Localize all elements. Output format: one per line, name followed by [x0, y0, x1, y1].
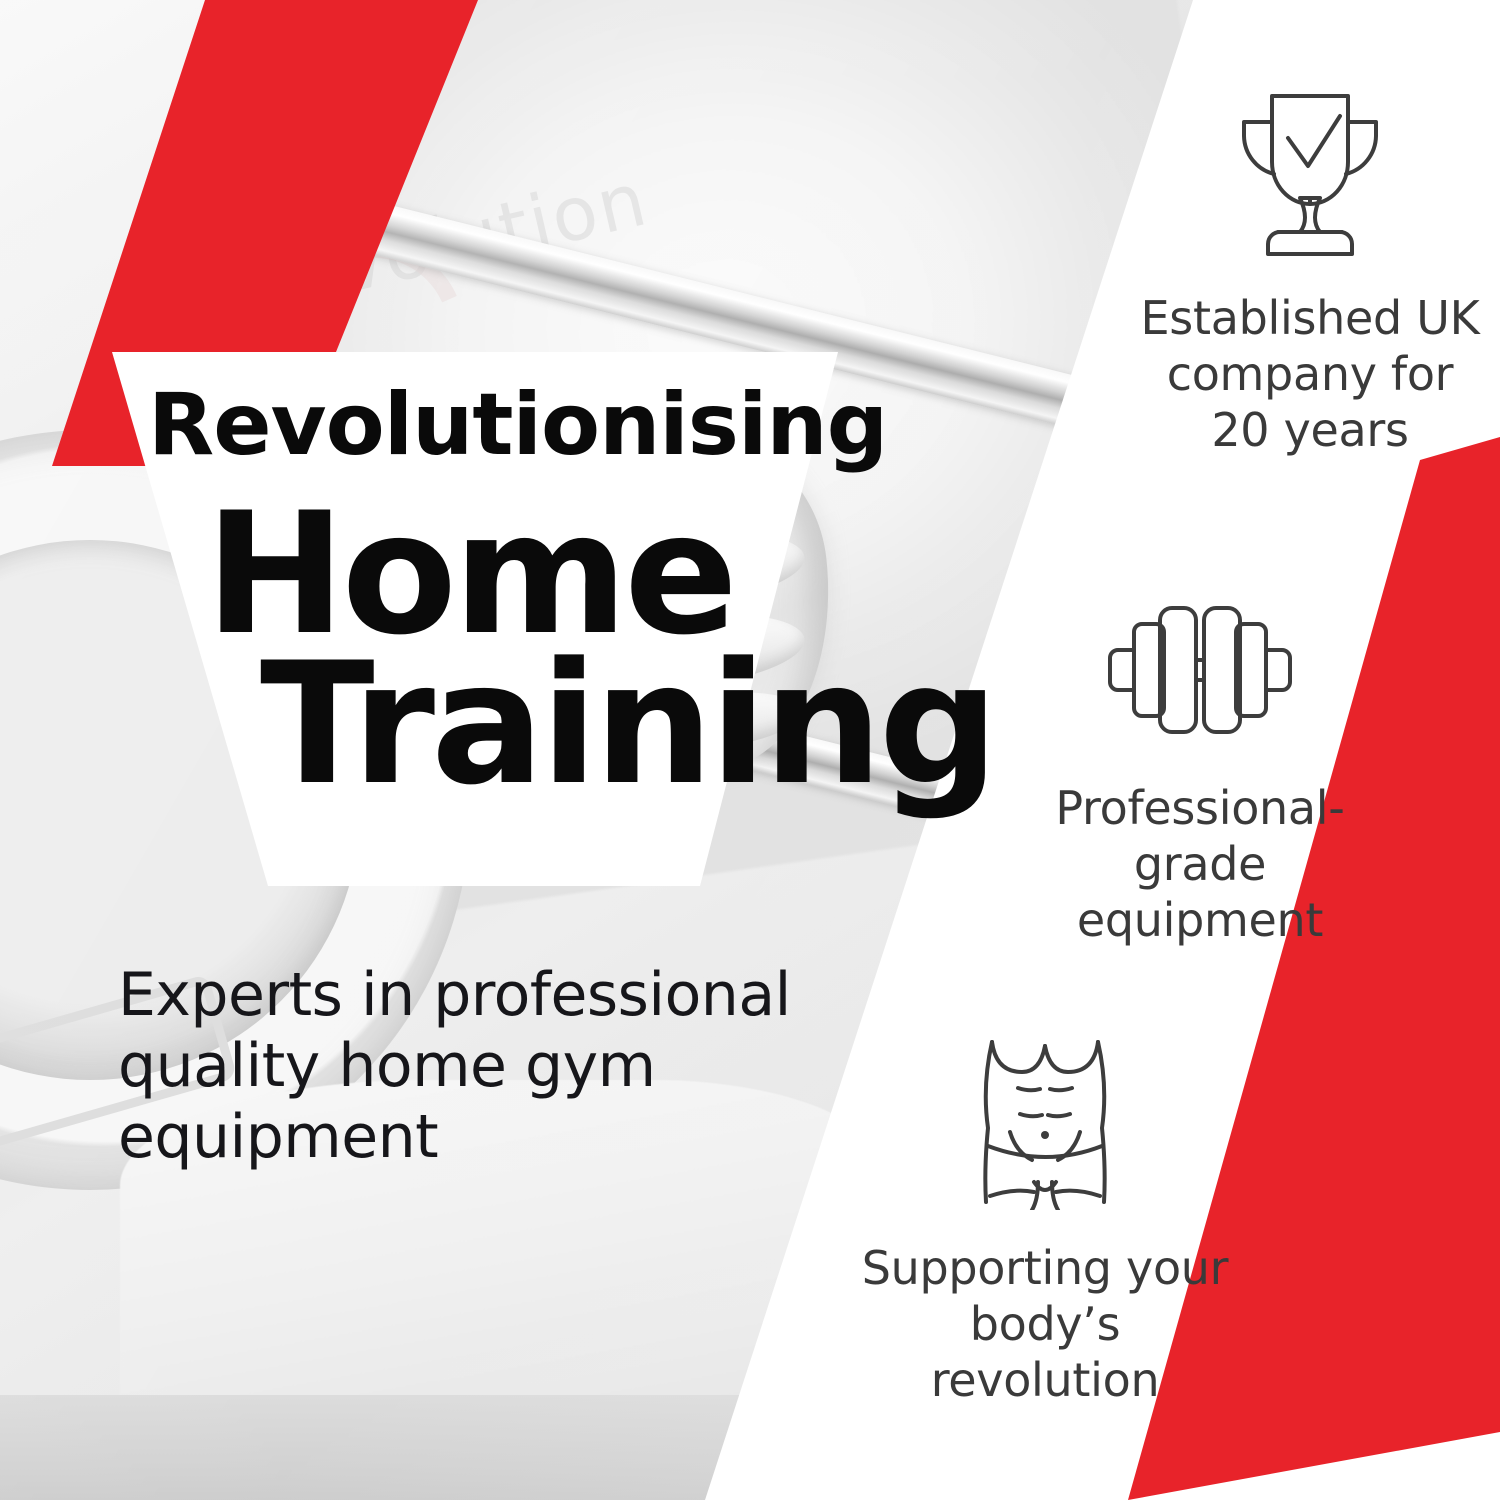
promo-banner: revolution Revolutionising Home Training… — [0, 0, 1500, 1500]
feature-supporting-body: Supporting your body’s revolution — [855, 1030, 1235, 1408]
feature-professional-grade: Professional-grade equipment — [1010, 590, 1390, 948]
feature-label-line-1: Professional-grade — [1010, 780, 1390, 892]
torso-abs-icon — [855, 1030, 1235, 1210]
feature-label-line-2: equipment — [1010, 892, 1390, 948]
dumbbell-icon — [1010, 590, 1390, 750]
feature-label-line-2: body’s revolution — [855, 1296, 1235, 1408]
subtitle-text: Experts in professional quality home gym… — [118, 960, 838, 1172]
trophy-check-icon — [1120, 80, 1500, 260]
feature-label-line-3: 20 years — [1120, 402, 1500, 458]
feature-label-line-1: Established UK — [1120, 290, 1500, 346]
feature-label-line-2: company for — [1120, 346, 1500, 402]
feature-label-line-1: Supporting your — [855, 1240, 1235, 1296]
feature-established-uk: Established UK company for 20 years — [1120, 80, 1500, 458]
